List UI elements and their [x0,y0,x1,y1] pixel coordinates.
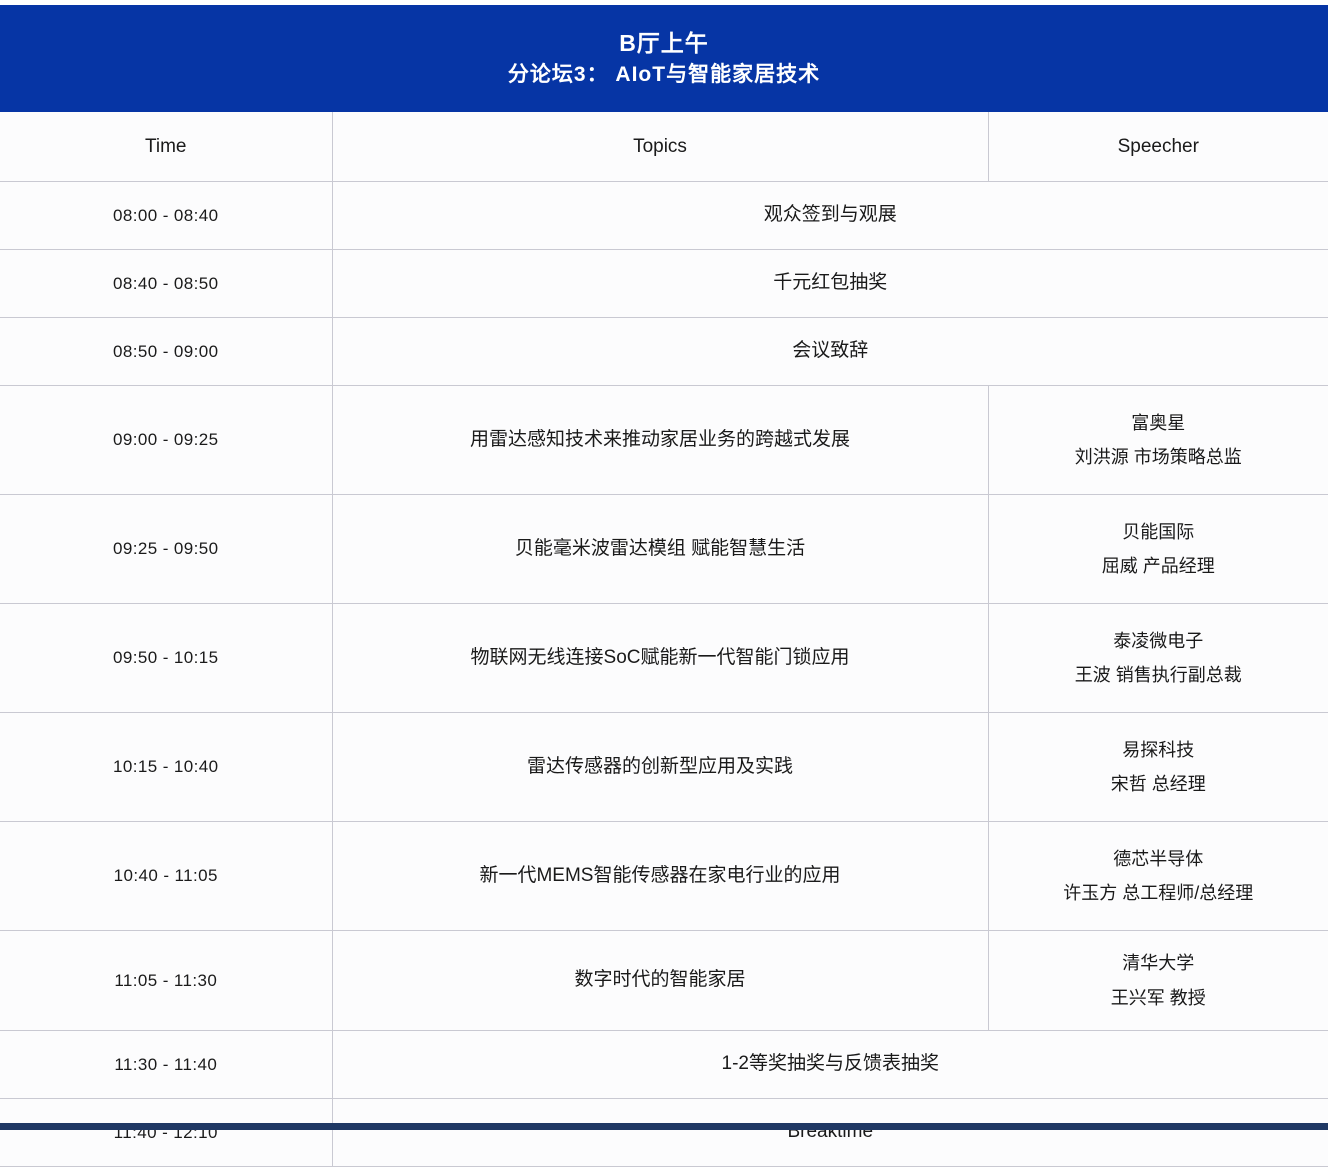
table-row: 09:00 - 09:25用雷达感知技术来推动家居业务的跨越式发展富奥星刘洪源 … [0,386,1328,495]
table-row: 10:40 - 11:05新一代MEMS智能传感器在家电行业的应用德芯半导体许玉… [0,822,1328,931]
cell-time: 08:40 - 08:50 [0,250,332,318]
speaker-name-title: 王兴军 教授 [990,981,1328,1015]
banner-forum-title: 分论坛3： AIoT与智能家居技术 [508,59,820,91]
cell-time: 11:40 - 12:10 [0,1099,332,1167]
column-header-topics: Topics [332,112,988,182]
cell-topic: 观众签到与观展 [332,182,1328,250]
cell-topic: 会议致辞 [332,318,1328,386]
cell-speaker: 德芯半导体许玉方 总工程师/总经理 [988,822,1328,931]
speaker-organization: 贝能国际 [990,515,1328,549]
cell-speaker: 易探科技宋哲 总经理 [988,713,1328,822]
speaker-organization: 易探科技 [990,733,1328,767]
cell-time: 10:15 - 10:40 [0,713,332,822]
cell-time: 09:25 - 09:50 [0,495,332,604]
banner-hall-title: B厅上午 [619,28,709,59]
speaker-name-title: 王波 销售执行副总裁 [990,658,1328,692]
table-row: 09:50 - 10:15物联网无线连接SoC赋能新一代智能门锁应用泰凌微电子王… [0,604,1328,713]
speaker-name-title: 屈威 产品经理 [990,549,1328,583]
speaker-organization: 清华大学 [990,946,1328,980]
table-row: 11:05 - 11:30数字时代的智能家居清华大学王兴军 教授 [0,931,1328,1031]
table-row: 08:00 - 08:40观众签到与观展 [0,182,1328,250]
cell-topic: 千元红包抽奖 [332,250,1328,318]
cell-topic: 数字时代的智能家居 [332,931,988,1031]
table-row: 11:40 - 12:10Breaktime [0,1099,1328,1167]
agenda-table: Time Topics Speecher 08:00 - 08:40观众签到与观… [0,112,1328,1167]
cell-topic: 贝能毫米波雷达模组 赋能智慧生活 [332,495,988,604]
cell-speaker: 清华大学王兴军 教授 [988,931,1328,1031]
speaker-organization: 泰凌微电子 [990,624,1328,658]
cell-topic: 用雷达感知技术来推动家居业务的跨越式发展 [332,386,988,495]
table-header-row: Time Topics Speecher [0,112,1328,182]
table-row: 08:40 - 08:50千元红包抽奖 [0,250,1328,318]
cell-time: 08:50 - 09:00 [0,318,332,386]
cell-time: 09:50 - 10:15 [0,604,332,713]
cell-topic: 新一代MEMS智能传感器在家电行业的应用 [332,822,988,931]
speaker-name-title: 宋哲 总经理 [990,767,1328,801]
speaker-name-title: 刘洪源 市场策略总监 [990,440,1328,474]
cell-topic: 物联网无线连接SoC赋能新一代智能门锁应用 [332,604,988,713]
cell-topic: Breaktime [332,1099,1328,1167]
cell-time: 10:40 - 11:05 [0,822,332,931]
cell-speaker: 富奥星刘洪源 市场策略总监 [988,386,1328,495]
cell-time: 11:05 - 11:30 [0,931,332,1031]
table-row: 09:25 - 09:50贝能毫米波雷达模组 赋能智慧生活贝能国际屈威 产品经理 [0,495,1328,604]
session-banner: B厅上午 分论坛3： AIoT与智能家居技术 [0,5,1328,112]
cell-topic: 雷达传感器的创新型应用及实践 [332,713,988,822]
cell-speaker: 贝能国际屈威 产品经理 [988,495,1328,604]
cell-time: 11:30 - 11:40 [0,1031,332,1099]
speaker-name-title: 许玉方 总工程师/总经理 [990,876,1328,910]
table-row: 08:50 - 09:00会议致辞 [0,318,1328,386]
cell-time: 08:00 - 08:40 [0,182,332,250]
speaker-organization: 富奥星 [990,406,1328,440]
cell-time: 09:00 - 09:25 [0,386,332,495]
cell-topic: 1-2等奖抽奖与反馈表抽奖 [332,1031,1328,1099]
speaker-organization: 德芯半导体 [990,842,1328,876]
table-row: 10:15 - 10:40雷达传感器的创新型应用及实践易探科技宋哲 总经理 [0,713,1328,822]
column-header-speecher: Speecher [988,112,1328,182]
cell-speaker: 泰凌微电子王波 销售执行副总裁 [988,604,1328,713]
table-row: 11:30 - 11:401-2等奖抽奖与反馈表抽奖 [0,1031,1328,1099]
bottom-accent-bar [0,1123,1328,1130]
column-header-time: Time [0,112,332,182]
schedule-page: B厅上午 分论坛3： AIoT与智能家居技术 Time Topics Speec… [0,0,1328,1130]
